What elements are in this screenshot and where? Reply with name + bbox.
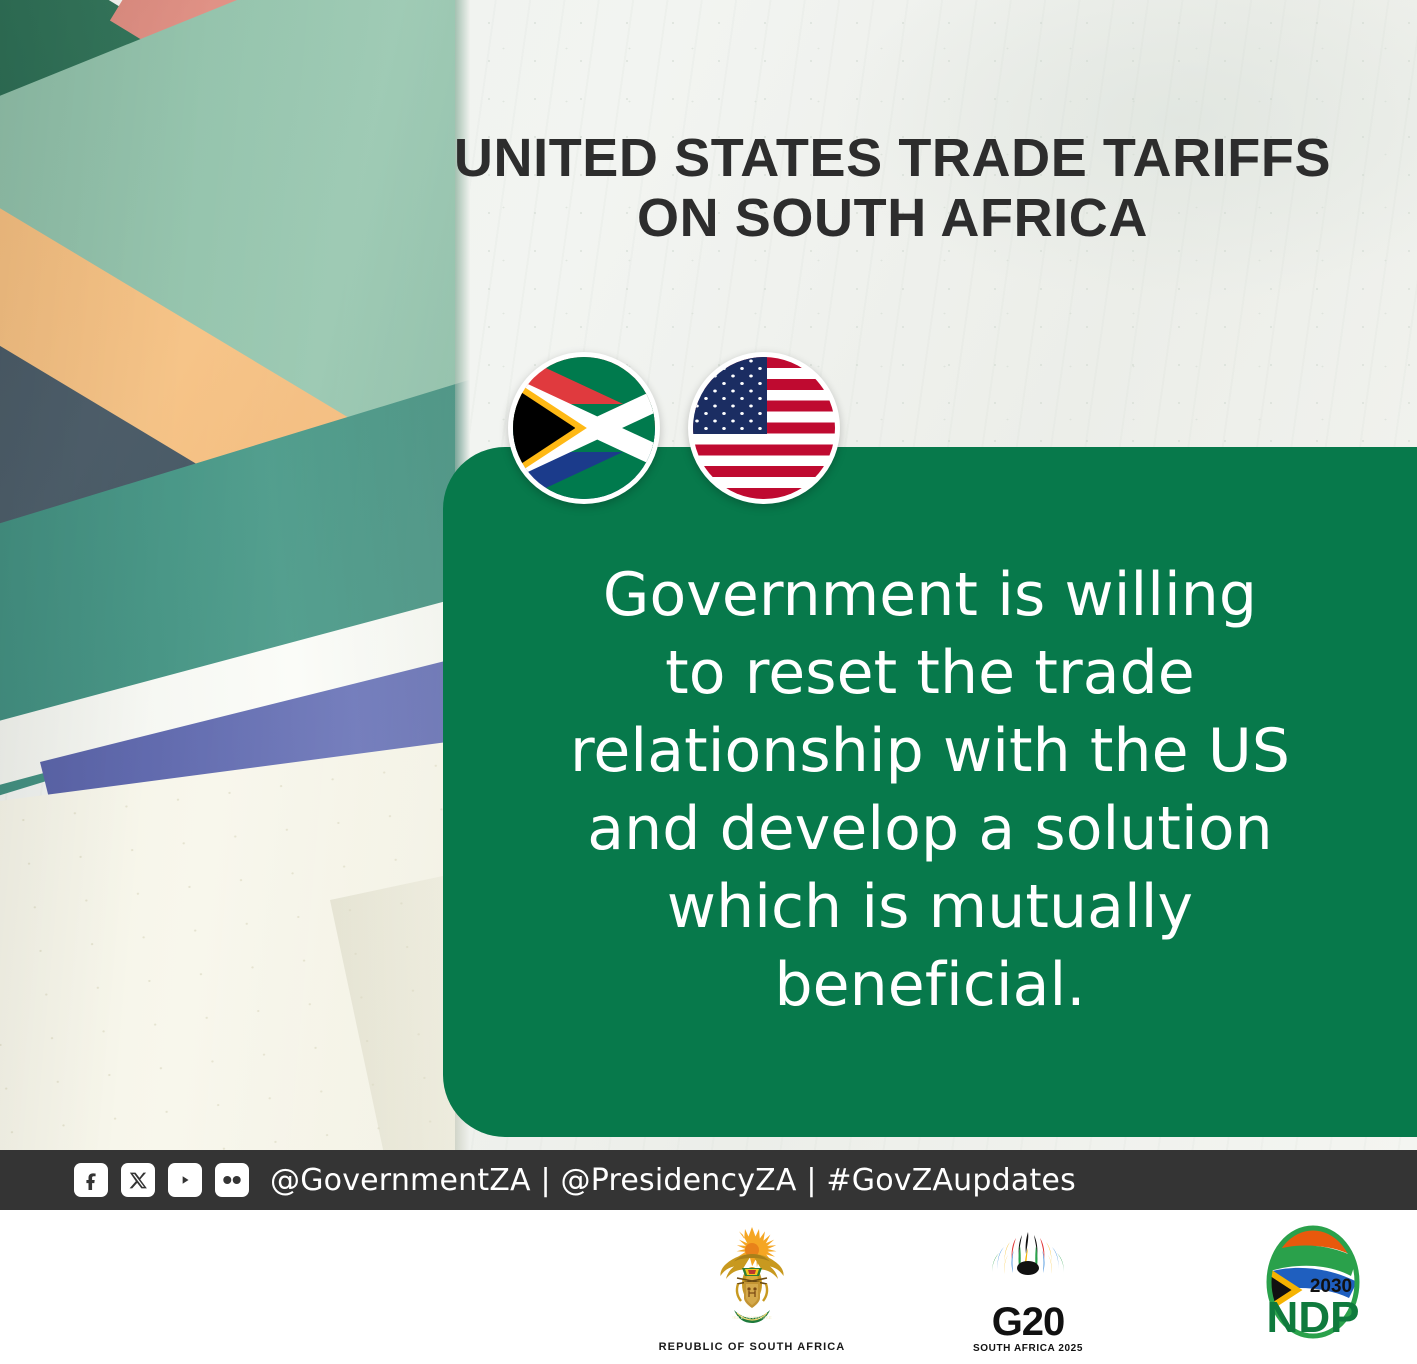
g20-protea-illustration	[976, 1224, 1080, 1298]
quote-text: Government is willing to reset the trade…	[474, 556, 1386, 1028]
g20-logo: G20 SOUTH AFRICA 2025	[948, 1224, 1108, 1354]
south-africa-flag-icon	[508, 352, 660, 504]
ndp-2030-illustration: 2030 NDP	[1255, 1224, 1371, 1346]
flickr-icon[interactable]	[215, 1163, 249, 1197]
quote-line: to reset the trade	[570, 634, 1290, 712]
quote-line: beneficial.	[570, 946, 1290, 1024]
g20-caption: SOUTH AFRICA 2025	[948, 1343, 1108, 1354]
x-twitter-icon[interactable]	[121, 1163, 155, 1197]
social-handles-text: @GovernmentZA | @PresidencyZA | #GovZAup…	[270, 1163, 1076, 1198]
page-title-line-2: ON SOUTH AFRICA	[400, 188, 1385, 248]
quote-line: which is mutually	[570, 868, 1290, 946]
quote-line: relationship with the US	[570, 712, 1290, 790]
facebook-icon[interactable]	[74, 1163, 108, 1197]
flag-badges	[508, 352, 840, 504]
page-title-line-1: UNITED STATES TRADE TARIFFS	[454, 128, 1331, 188]
ndp-wordmark: NDP	[1267, 1293, 1360, 1342]
social-media-bar: @GovernmentZA | @PresidencyZA | #GovZAup…	[0, 1150, 1417, 1210]
poster-canvas: UNITED STATES TRADE TARIFFS ON SOUTH AFR…	[0, 0, 1417, 1364]
g20-wordmark: G20	[948, 1303, 1108, 1341]
youtube-icon[interactable]	[168, 1163, 202, 1197]
united-states-flag-icon	[688, 352, 840, 504]
page-title: UNITED STATES TRADE TARIFFS ON SOUTH AFR…	[400, 128, 1385, 249]
footer-logo-strip: !KE E: /XARRA //KE REPUBLIC OF SOUTH AFR…	[0, 1210, 1417, 1364]
quote-line: and develop a solution	[570, 790, 1290, 868]
quote-line: Government is willing	[570, 556, 1290, 634]
social-icon-row	[74, 1163, 249, 1197]
svg-text:!KE E: /XARRA //KE: !KE E: /XARRA //KE	[732, 1315, 771, 1320]
coat-of-arms-illustration: !KE E: /XARRA //KE	[704, 1224, 800, 1332]
ndp-2030-logo: 2030 NDP	[1238, 1224, 1388, 1351]
coat-of-arms-caption: REPUBLIC OF SOUTH AFRICA	[608, 1341, 896, 1353]
quote-card: Government is willing to reset the trade…	[443, 447, 1417, 1137]
coat-of-arms-logo: !KE E: /XARRA //KE REPUBLIC OF SOUTH AFR…	[608, 1224, 896, 1353]
